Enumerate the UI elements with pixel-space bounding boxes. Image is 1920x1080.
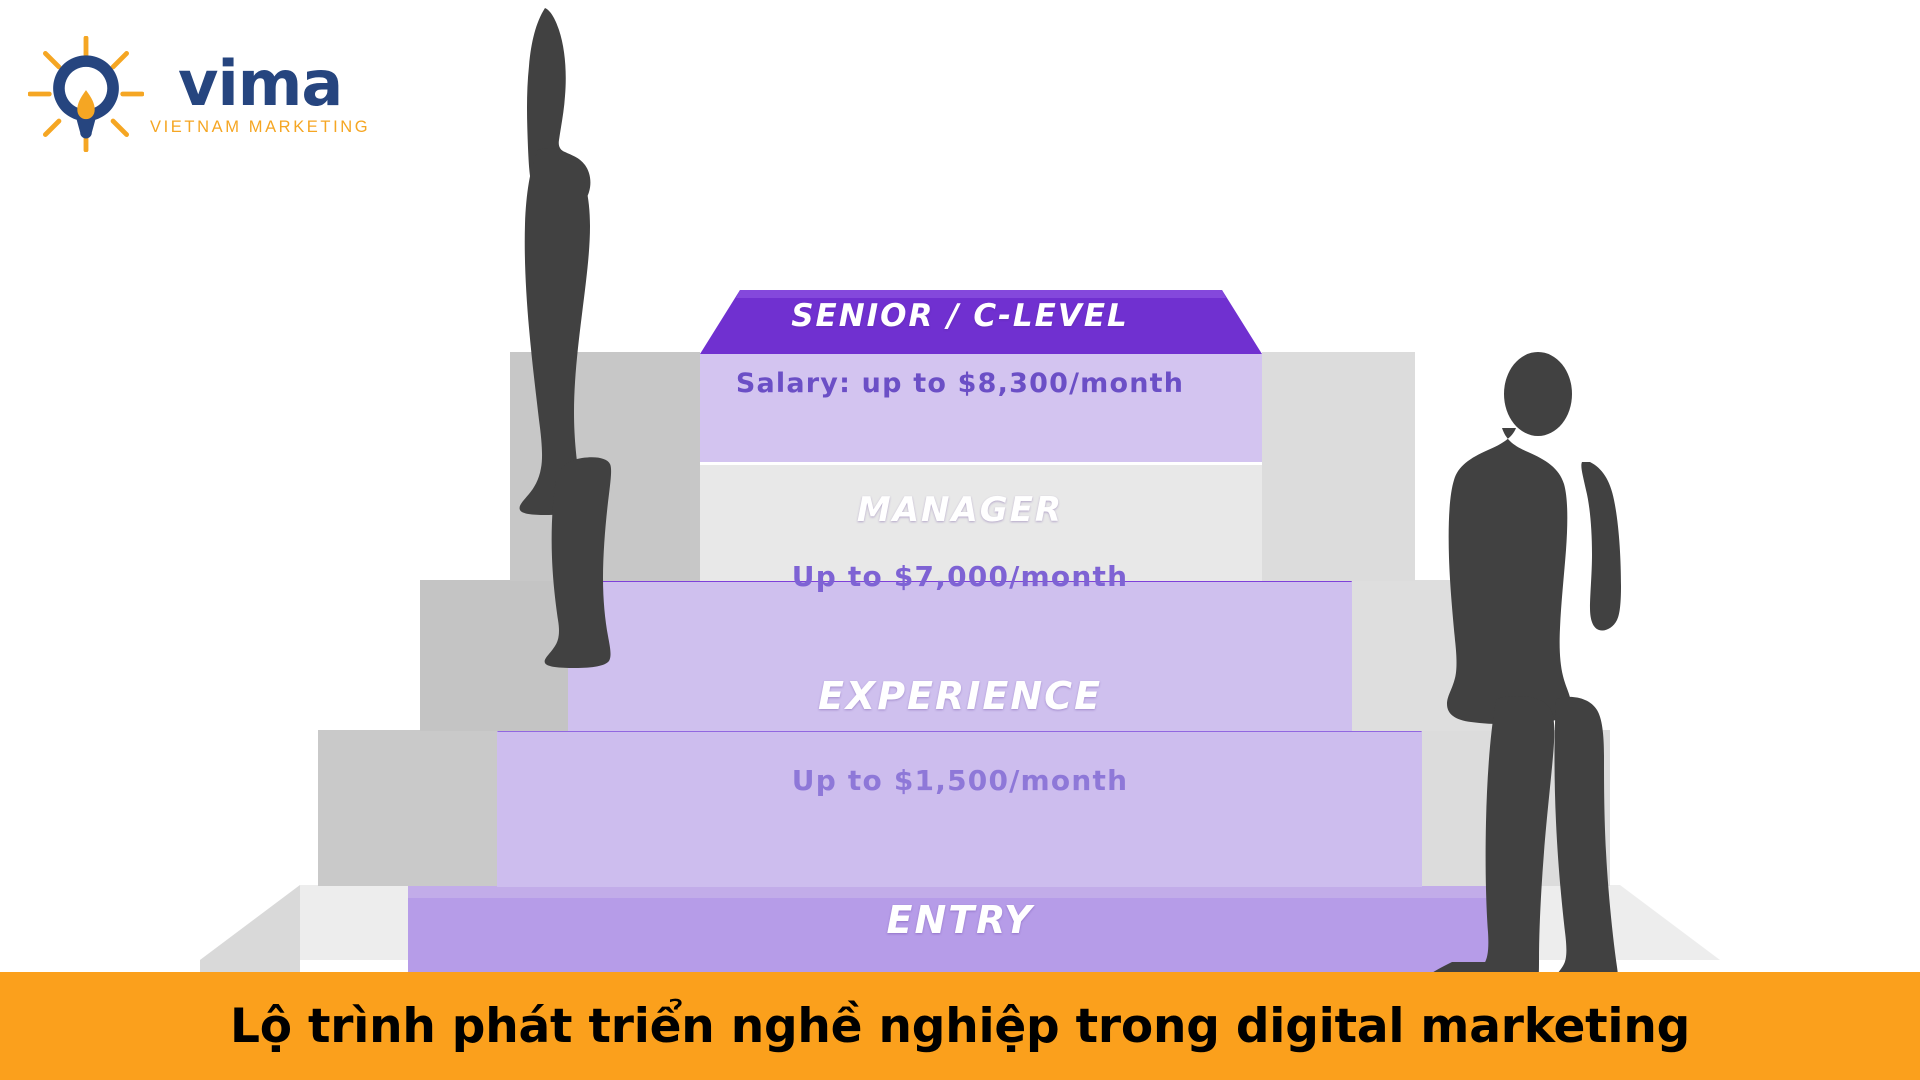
step-senior — [510, 290, 1415, 581]
infographic-canvas: SENIOR / C-LEVEL Salary: up to $8,300/mo… — [0, 0, 1920, 1080]
step-manager-face — [568, 582, 1352, 731]
flame-icon — [77, 90, 94, 119]
logo-wordmark-group: vima VIETNAM MARKETING — [150, 51, 370, 137]
caption-title: Lộ trình phát triển nghề nghiệp trong di… — [230, 999, 1690, 1054]
step-experience-face — [497, 732, 1422, 887]
person-right-head — [1504, 352, 1572, 436]
vima-logo: vima VIETNAM MARKETING — [28, 34, 368, 154]
step-senior-band — [700, 290, 1262, 354]
logo-wordmark-text: vima — [178, 55, 342, 112]
caption-bar: Lộ trình phát triển nghề nghiệp trong di… — [0, 972, 1920, 1080]
lightbulb-sun-icon — [28, 36, 144, 152]
step-manager-left-block — [420, 580, 568, 731]
logo-tagline-text: VIETNAM MARKETING — [150, 118, 370, 137]
step-experience-left-block — [318, 730, 497, 886]
step-senior-band-highlight — [736, 290, 1226, 298]
step-senior-right-block — [1262, 352, 1415, 581]
step-senior-face — [700, 354, 1262, 462]
